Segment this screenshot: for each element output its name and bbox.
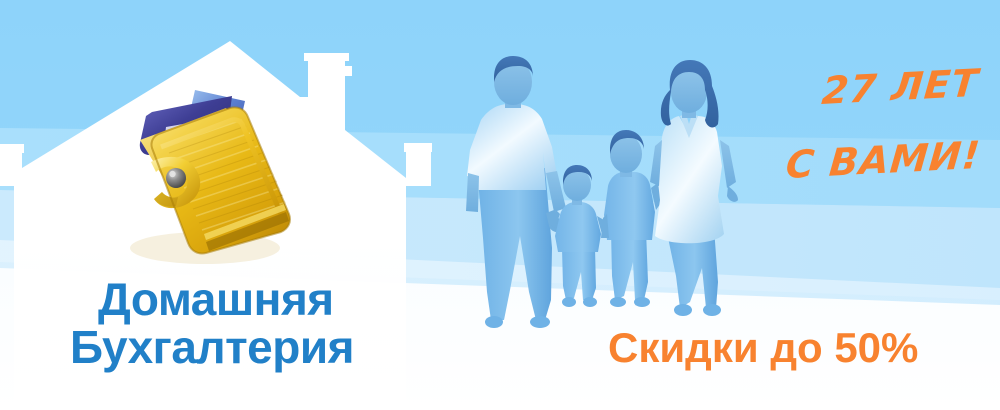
- wallet-clasp: [166, 168, 186, 188]
- years-badge-line2: С ВАМИ!: [784, 136, 982, 184]
- wallet-clasp-highlight: [169, 171, 175, 177]
- discount-headline: Скидки до 50%: [608, 327, 918, 369]
- brand-title-line2: Бухгалтерия: [70, 324, 354, 370]
- years-badge-line1: 27 ЛЕТ: [820, 64, 980, 110]
- brand-title-line1: Домашняя: [98, 276, 334, 322]
- promo-banner: Домашняя Бухгалтерия 27 ЛЕТ С ВАМИ! Скид…: [0, 0, 1000, 410]
